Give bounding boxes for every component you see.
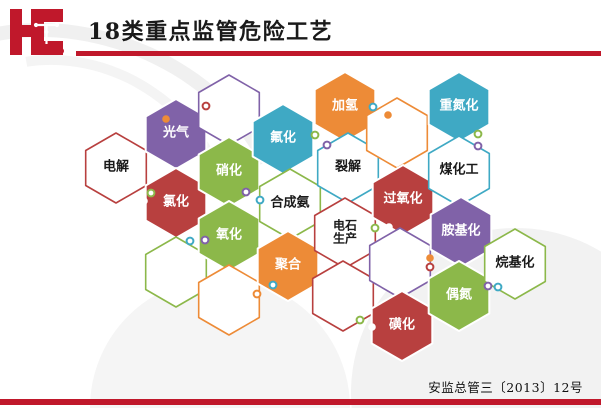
hexagon-lvhua[interactable] bbox=[146, 168, 207, 238]
connector-node-n4 bbox=[141, 198, 147, 204]
connector-node-n8 bbox=[187, 238, 194, 245]
hexagon-process-diagram: 电解光气氯化硝化氧化氟化合成氨聚合加氢裂解电石 生产过氧化磺化重氮化煤化工胺基化… bbox=[0, 0, 601, 408]
connector-node-n1 bbox=[163, 116, 169, 122]
connector-node-n14 bbox=[475, 143, 482, 150]
connector-node-n22 bbox=[369, 324, 375, 330]
footer-rule bbox=[0, 399, 601, 405]
connector-node-n20 bbox=[427, 264, 434, 271]
connector-node-n13 bbox=[475, 131, 482, 138]
connector-node-n9 bbox=[312, 132, 319, 139]
footer-document-number: 安监总管三〔2013〕12号 bbox=[428, 377, 583, 396]
hexagon-blank-green-1[interactable] bbox=[146, 237, 207, 307]
hexagon-xiaohua[interactable] bbox=[199, 137, 260, 207]
connector-node-n6 bbox=[257, 197, 264, 204]
hexagon-wanjihua[interactable] bbox=[485, 229, 546, 299]
connector-node-n21 bbox=[357, 317, 364, 324]
connector-node-n23 bbox=[485, 283, 492, 290]
connector-node-n19 bbox=[427, 255, 433, 261]
hexagon-svg-canvas bbox=[0, 0, 601, 408]
connector-node-n2 bbox=[203, 103, 210, 110]
connector-node-n5 bbox=[243, 189, 250, 196]
hexagon-ouran[interactable] bbox=[429, 261, 490, 331]
connector-node-n3 bbox=[148, 190, 155, 197]
connector-node-n10 bbox=[324, 142, 331, 149]
hexagon-fuhua[interactable] bbox=[253, 104, 314, 174]
connector-node-n16 bbox=[386, 224, 392, 230]
hexagon-anjihua[interactable] bbox=[431, 197, 492, 267]
hexagon-blank-purple-2[interactable] bbox=[370, 228, 431, 298]
slide-root: 18类重点监管危险工艺 电解光气氯化硝化氧化氟化合成氨聚合加氢裂解电石 生产过氧… bbox=[0, 0, 601, 408]
hexagon-juhe[interactable] bbox=[258, 231, 319, 301]
connector-node-n11 bbox=[370, 104, 377, 111]
hexagon-yanghua[interactable] bbox=[199, 201, 260, 271]
hexagon-huanghua[interactable] bbox=[372, 291, 433, 361]
connector-node-n7 bbox=[202, 237, 209, 244]
hexagon-guangqi[interactable] bbox=[146, 99, 207, 169]
hexagon-hechengan[interactable] bbox=[260, 169, 321, 239]
connector-node-n18 bbox=[254, 291, 261, 298]
connector-node-n15 bbox=[372, 225, 379, 232]
hexagon-dianjie[interactable] bbox=[86, 133, 147, 203]
connector-node-n12 bbox=[385, 112, 391, 118]
hexagon-dianshi[interactable] bbox=[315, 198, 376, 268]
hexagon-blank-orange-1[interactable] bbox=[199, 265, 260, 335]
hexagon-guoyanghua[interactable] bbox=[373, 165, 434, 235]
connector-node-n24 bbox=[495, 284, 502, 291]
connector-node-n17 bbox=[270, 282, 277, 289]
